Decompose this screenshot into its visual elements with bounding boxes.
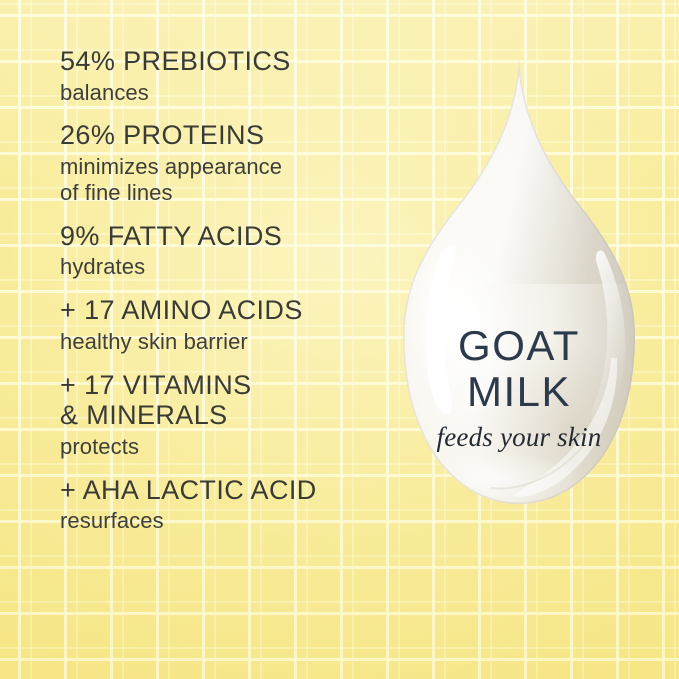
ingredient-benefit: protects [60, 434, 390, 460]
ingredient-headline: 26% PROTEINS [60, 120, 390, 151]
ingredient-item-proteins: 26% PROTEINS minimizes appearance of fin… [60, 120, 390, 205]
goat-milk-ingredient-poster: 54% PREBIOTICS balances 26% PROTEINS min… [0, 0, 679, 679]
ingredient-headline: + 17 VITAMINS & MINERALS [60, 370, 390, 431]
ingredient-item-aha-lactic-acid: + AHA LACTIC ACID resurfaces [60, 475, 390, 534]
ingredient-item-fatty-acids: 9% FATTY ACIDS hydrates [60, 221, 390, 280]
ingredient-benefit: hydrates [60, 254, 390, 280]
ingredient-headline: 54% PREBIOTICS [60, 46, 390, 77]
ingredient-headline: + 17 AMINO ACIDS [60, 295, 390, 326]
ingredient-item-amino-acids: + 17 AMINO ACIDS healthy skin barrier [60, 295, 390, 354]
ingredient-benefit: healthy skin barrier [60, 329, 390, 355]
ingredient-headline: + AHA LACTIC ACID [60, 475, 390, 506]
ingredient-item-vitamins-minerals: + 17 VITAMINS & MINERALS protects [60, 370, 390, 460]
ingredient-benefit: resurfaces [60, 508, 390, 534]
ingredient-benefit: balances [60, 80, 390, 106]
ingredient-item-prebiotics: 54% PREBIOTICS balances [60, 46, 390, 105]
milk-droplet-illustration [373, 58, 665, 554]
ingredient-headline: 9% FATTY ACIDS [60, 221, 390, 252]
ingredient-list: 54% PREBIOTICS balances 26% PROTEINS min… [60, 46, 390, 534]
ingredient-benefit: minimizes appearance of fine lines [60, 154, 390, 206]
